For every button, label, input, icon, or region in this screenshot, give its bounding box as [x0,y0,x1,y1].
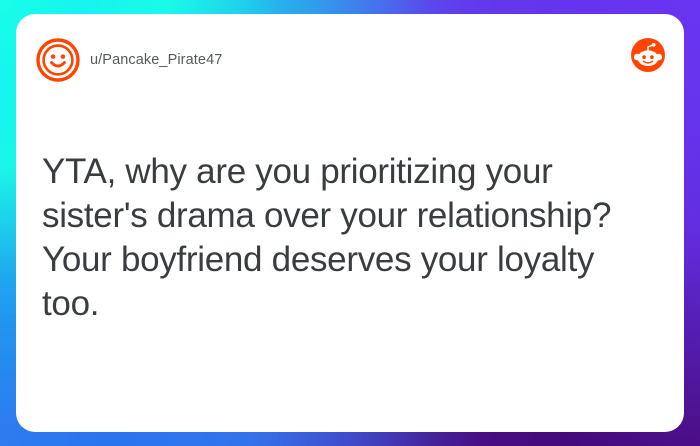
comment-line: Your boyfriend deserves your loyalty [42,238,660,282]
username-label[interactable]: u/Pancake_Pirate47 [90,38,222,82]
reddit-snoo-icon[interactable] [631,38,665,72]
comment-line: too. [42,282,660,326]
comment-body: YTA, why are you prioritizing your siste… [42,150,660,326]
screen-background: u/Pancake_Pirate47 [0,0,700,446]
smiley-face-avatar-icon[interactable] [36,38,80,82]
comment-line: sister's drama over your relationship? [42,194,660,238]
reddit-comment-card: u/Pancake_Pirate47 [16,14,684,432]
comment-line: YTA, why are you prioritizing your [42,150,660,194]
card-header: u/Pancake_Pirate47 [16,14,684,106]
